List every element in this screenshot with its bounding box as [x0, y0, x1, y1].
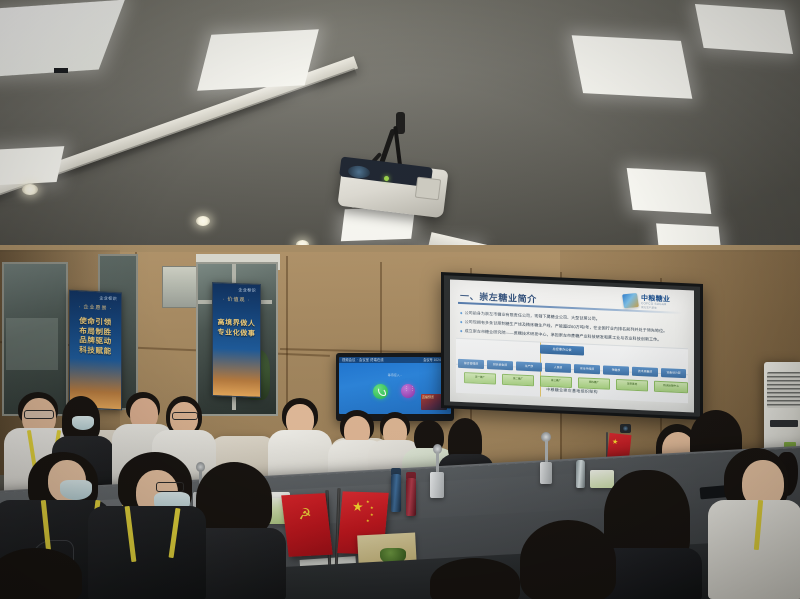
conference-room-photo: 企业标识 · 企业愿景 · 使命引领 布局制胜 品牌驱动 科技赋能 企业标识 ·…	[0, 0, 800, 599]
flag-small-star-icon: ★	[370, 513, 374, 517]
ac-display-panel[interactable]	[770, 420, 798, 427]
projector	[340, 112, 460, 212]
call-accept-button[interactable]	[373, 384, 388, 399]
eyeglasses-icon	[24, 410, 54, 419]
communist-party-flag	[281, 493, 333, 557]
tv-status-bar: 视频会议 · 会议室 终端在线 会议号 1024 设置	[339, 357, 451, 363]
flag-small-star-icon: ★	[370, 506, 374, 510]
org-chart-node-label: 生产部	[516, 361, 542, 371]
org-chart-node: 销售部	[603, 365, 629, 375]
water-bottle	[576, 460, 585, 488]
org-chart-node-label: 第三糖厂	[541, 377, 571, 386]
org-chart-node-label: 技术质量部	[632, 367, 658, 377]
flag-star-icon: ★	[612, 438, 619, 447]
org-chart-node-label: 销售部	[603, 365, 629, 375]
wall-window	[162, 266, 198, 308]
wall-banner-values: 企业标识 · 价值观 · 高境界做人 专业化做事	[212, 282, 261, 398]
logo-mark-icon	[622, 293, 639, 308]
ceiling-panel-light	[572, 35, 693, 99]
org-chart-root-label: 总经理办公会	[540, 345, 584, 356]
banner-slogan-line: 专业化做事	[213, 328, 260, 340]
tv-stand	[54, 68, 68, 73]
presentation-slide: 一、崇左糖业简介 中粮糖业 COFCO SUGAR 崇左生产基地 公司前身为崇左…	[450, 279, 694, 412]
org-chart-node-label: 综合管理部	[458, 359, 484, 369]
flag-small-star-icon: ★	[366, 500, 370, 504]
org-chart-node-label: 第一糖厂	[465, 373, 495, 382]
attendee-hair	[520, 520, 616, 599]
ac-air-grille	[767, 372, 800, 408]
org-chart-node: 技术质量部	[632, 367, 658, 377]
water-bottle	[406, 478, 416, 516]
org-chart-node-label: 财务资金部	[487, 360, 513, 370]
org-chart-node-label: 精炼糖厂	[579, 378, 609, 387]
ceiling-panel-light	[627, 168, 712, 214]
wall-banner-vision: 企业标识 · 企业愿景 · 使命引领 布局制胜 品牌驱动 科技赋能	[69, 290, 122, 411]
banner-logo-text: 企业标识	[70, 291, 121, 303]
org-chart-node-label: 甘蔗基地	[617, 380, 647, 389]
org-chart-root-node: 总经理办公会	[540, 345, 584, 356]
dialpad-button[interactable]	[401, 384, 415, 398]
banner-header: · 企业愿景 ·	[70, 303, 121, 313]
banner-slogan-list: 高境界做人 专业化做事	[213, 318, 260, 340]
org-chart-node-label: 第二糖厂	[503, 375, 533, 384]
org-chart-node-label: 安全环保部	[574, 364, 600, 374]
org-chart-node-label: 物流运输中心	[655, 382, 687, 391]
face-mask	[72, 416, 94, 430]
hammer-sickle-icon: ☭	[295, 505, 315, 525]
org-chart-node: 人事部	[545, 363, 571, 373]
projector-vent	[415, 177, 441, 201]
ceiling-panel-light	[197, 29, 319, 90]
flag-star-icon: ★	[351, 500, 364, 514]
attendee-hair	[196, 462, 272, 536]
face-mask	[60, 480, 92, 500]
ceiling-panel-light	[0, 146, 64, 186]
banner-slogan-line: 科技赋能	[70, 344, 121, 356]
org-chart-node: 生产部	[516, 361, 542, 371]
org-chart-node: 安全环保部	[574, 364, 600, 374]
org-chart-node-label: 人事部	[545, 363, 571, 373]
logo-subtitle-secondary: 崇左生产基地	[641, 305, 657, 310]
attendee-body	[88, 506, 206, 599]
tissue-box	[590, 470, 614, 488]
glass-door-pane	[6, 318, 58, 370]
tv-preview-label: 直播预览	[422, 395, 434, 399]
eyeglasses-icon	[156, 482, 184, 492]
org-chart-node-label: 设备动力部	[661, 368, 686, 378]
banner-logo-text: 企业标识	[213, 283, 260, 294]
conference-microphone[interactable]	[540, 462, 552, 484]
flag-small-star-icon: ★	[366, 519, 370, 523]
slide-company-logo: 中粮糖业 COFCO SUGAR 崇左生产基地	[623, 292, 687, 312]
tv-center-label: 等待接入...	[339, 373, 451, 377]
recessed-downlight	[196, 216, 210, 226]
org-chart-node: 设备动力部	[661, 368, 686, 378]
org-chart-node: 财务资金部	[487, 360, 513, 370]
org-chart-node: 综合管理部	[458, 359, 484, 369]
eyeglasses-icon	[172, 412, 198, 420]
tv-screen: 视频会议 · 会议室 终端在线 会议号 1024 设置 等待接入... 直播预览	[339, 357, 451, 414]
banner-slogan-list: 使命引领 布局制胜 品牌驱动 科技赋能	[70, 316, 121, 357]
camera-lens-icon	[623, 426, 628, 431]
conference-microphone[interactable]	[430, 472, 444, 498]
banner-header: · 价值观 ·	[213, 295, 260, 304]
ceiling-panel-light	[695, 4, 793, 54]
recessed-downlight	[22, 184, 38, 195]
slide-org-chart: 总经理办公会 综合管理部 财务资金部 生产部 人事部 安全环保部 销售部 技术质…	[456, 338, 688, 404]
attendee-hair	[430, 558, 520, 599]
water-bottle	[391, 474, 401, 512]
